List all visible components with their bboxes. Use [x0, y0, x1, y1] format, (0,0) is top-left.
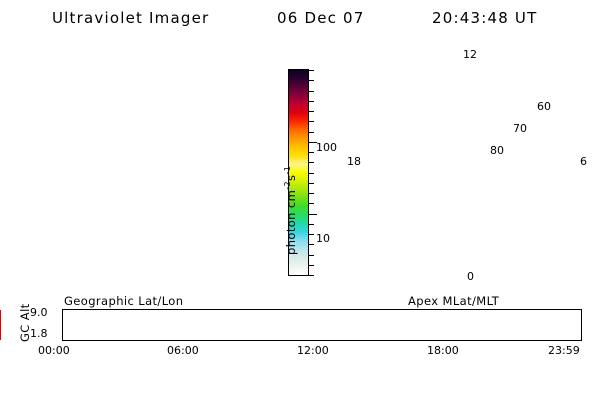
apex-dial-panel: [345, 44, 595, 296]
colorbar-tick: [309, 244, 314, 245]
colorbar-tick: [309, 132, 314, 133]
colorbar-tick: [309, 203, 314, 204]
mlat-label-80: 80: [490, 144, 504, 157]
ultraviolet-imager-display: Ultraviolet Imager 06 Dec 07 20:43:48 UT…: [0, 0, 600, 400]
mlt-label-12: 12: [463, 48, 477, 61]
colorbar-tick: [309, 234, 314, 235]
colorbar-tick-label-10: 10: [316, 232, 330, 245]
colorbar-tick: [309, 193, 314, 194]
colorbar-axis-label-s: s: [284, 175, 298, 181]
colorbar-tick-label-100: 100: [316, 141, 337, 154]
altitude-ytick-1-8: 1.8: [30, 327, 48, 340]
colorbar-tick: [309, 152, 314, 153]
colorbar-axis-exp-2: -1: [283, 166, 292, 175]
colorbar-axis-label-text: photon cm: [284, 190, 298, 255]
geographic-map-panel: [2, 44, 270, 296]
colorbar-tick: [309, 275, 314, 276]
time-tick-1800: 18:00: [427, 344, 459, 357]
colorbar-axis-exp-1: -2: [283, 181, 292, 190]
observation-date: 06 Dec 07: [277, 9, 365, 27]
time-tick-0000: 00:00: [38, 344, 70, 357]
time-tick-0600: 06:00: [167, 344, 199, 357]
left-panel-caption: Geographic Lat/Lon: [64, 294, 183, 308]
colorbar-tick: [309, 121, 314, 122]
mlat-label-70: 70: [513, 122, 527, 135]
colorbar-tick: [309, 111, 314, 112]
colorbar-tick: [309, 162, 314, 163]
right-panel-caption: Apex MLat/MLT: [408, 294, 499, 308]
colorbar-tick: [309, 80, 314, 81]
mlat-label-60: 60: [537, 100, 551, 113]
colorbar-tick: [309, 173, 314, 174]
time-tick-1200: 12:00: [297, 344, 329, 357]
colorbar-tick: [309, 183, 314, 184]
current-time-marker: [0, 310, 1, 340]
colorbar-tick: [309, 91, 314, 92]
mlt-label-0: 0: [467, 270, 474, 283]
colorbar-tick: [309, 224, 314, 225]
observation-time: 20:43:48 UT: [432, 9, 537, 27]
mlt-label-18: 18: [347, 155, 361, 168]
colorbar-tick: [309, 101, 314, 102]
mlt-label-6: 6: [580, 155, 587, 168]
colorbar-tick: [309, 214, 317, 215]
instrument-title: Ultraviolet Imager: [52, 9, 209, 27]
status-block: [0, 364, 600, 398]
colorbar-tick: [309, 70, 314, 71]
altitude-plot-frame: [62, 309, 582, 341]
altitude-trace: [63, 310, 581, 340]
altitude-ytick-9: 9.0: [30, 306, 48, 319]
time-tick-2359: 23:59: [548, 344, 580, 357]
